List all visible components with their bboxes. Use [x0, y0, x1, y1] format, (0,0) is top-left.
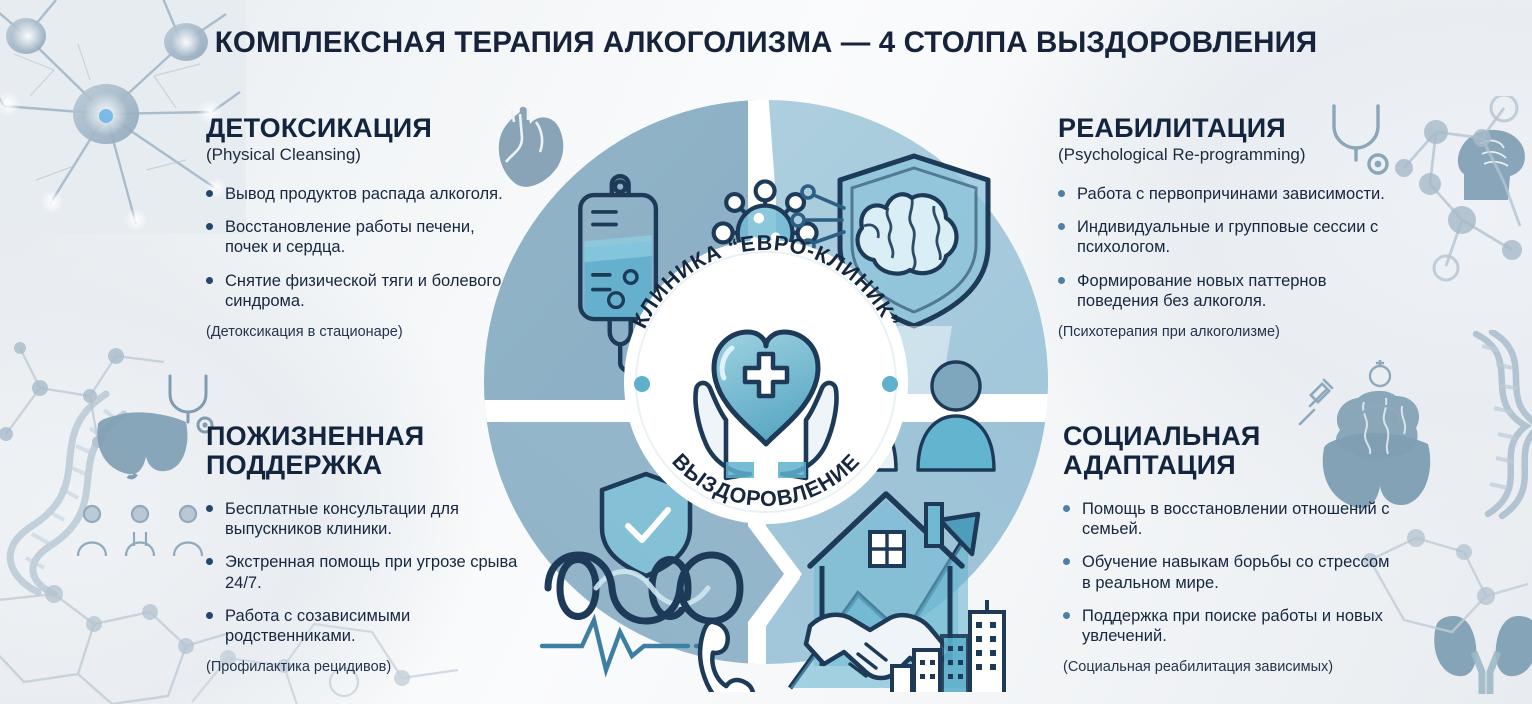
- bullet-dot: [206, 190, 213, 197]
- pillar-heading-support: ПОЖИЗНЕННАЯ ПОДДЕРЖКА: [206, 422, 536, 479]
- bullet-text: Поддержка при поиске работы и новых увле…: [1082, 607, 1383, 645]
- bullet-dot: [206, 558, 213, 565]
- dna-helix-icon: [2, 388, 132, 598]
- list-item: Обучение навыкам борьбы со стрессом в ре…: [1063, 552, 1393, 592]
- list-item: Поддержка при поиске работы и новых увле…: [1063, 606, 1393, 646]
- pillar-heading-social: СОЦИАЛЬНАЯ АДАПТАЦИЯ: [1063, 422, 1393, 479]
- list-item: Работа с созависимыми родственниками.: [206, 606, 536, 646]
- pillar-block-social: СОЦИАЛЬНАЯ АДАПТАЦИЯ Помощь в восстановл…: [1063, 422, 1393, 675]
- list-item: Работа с первопричинами зависимости.: [1058, 184, 1388, 204]
- liver-icon: [92, 408, 192, 480]
- bullet-text: Формирование новых паттернов поведения б…: [1077, 272, 1327, 310]
- nurse-icon: [1352, 360, 1408, 426]
- emblem-dot-right: [882, 376, 898, 392]
- molecule-icon: [0, 582, 230, 704]
- bullet-text: Помощь в восстановлении отношений с семь…: [1082, 500, 1390, 538]
- dna-helix-icon: [1462, 330, 1532, 520]
- bullet-text: Снятие физической тяги и болевого синдро…: [225, 272, 501, 310]
- pillar-subtitle-rehab: (Psychological Re-programming): [1058, 145, 1388, 165]
- list-item: Формирование новых паттернов поведения б…: [1058, 271, 1388, 311]
- center-emblem[interactable]: КЛИНИКА “ЕВРО-КЛИНИК” ВЫЗДОРОВЛЕНИЕ: [624, 231, 908, 524]
- bullet-dot: [1058, 190, 1065, 197]
- bullet-text: Обучение навыкам борьбы со стрессом в ре…: [1082, 553, 1390, 591]
- kidneys-icon: [1428, 588, 1532, 696]
- pillar-heading-rehab: РЕАБИЛИТАЦИЯ: [1058, 114, 1388, 143]
- list-item: Экстренная помощь при угрозе срыва 24/7.: [206, 552, 536, 592]
- infographic-canvas: КОМПЛЕКСНАЯ ТЕРАПИЯ АЛКОГОЛИЗМА — 4 СТОЛ…: [0, 0, 1532, 704]
- molecule-icon: [1386, 96, 1532, 326]
- list-item: Снятие физической тяги и болевого синдро…: [206, 271, 506, 311]
- title-bar: КОМПЛЕКСНАЯ ТЕРАПИЯ АЛКОГОЛИЗМА — 4 СТОЛ…: [0, 26, 1532, 59]
- list-item: Восстановление работы печени, почек и се…: [206, 217, 506, 257]
- pillar-heading-detox: ДЕТОКСИКАЦИЯ: [206, 114, 506, 143]
- emblem-dot-left: [634, 376, 650, 392]
- bullet-dot: [1058, 277, 1065, 284]
- bullet-dot: [206, 223, 213, 230]
- bullet-dot: [206, 612, 213, 619]
- bullet-dot: [1063, 612, 1070, 619]
- pillar-subtitle-detox: (Physical Cleansing): [206, 145, 506, 165]
- head-with-brain-icon: [1452, 120, 1532, 204]
- pillar-bullets-rehab: Работа с первопричинами зависимости. Инд…: [1058, 184, 1388, 311]
- bullet-text: Вывод продуктов распада алкоголя.: [225, 185, 503, 203]
- page-title: КОМПЛЕКСНАЯ ТЕРАПИЯ АЛКОГОЛИЗМА — 4 СТОЛ…: [11, 26, 1520, 59]
- bullet-text: Экстренная помощь при угрозе срыва 24/7.: [225, 553, 517, 591]
- pillar-bullets-social: Помощь в восстановлении отношений с семь…: [1063, 499, 1393, 646]
- pillar-bullets-detox: Вывод продуктов распада алкоголя. Восста…: [206, 184, 506, 311]
- bullet-text: Работа с первопричинами зависимости.: [1077, 185, 1385, 203]
- bullet-dot: [1058, 223, 1065, 230]
- bullet-text: Работа с созависимыми родственниками.: [225, 607, 410, 645]
- list-item: Бесплатные консультации для выпускников …: [206, 499, 536, 539]
- pillar-footnote-rehab: (Психотерапия при алкоголизме): [1058, 324, 1388, 340]
- pillar-footnote-support: (Профилактика рецидивов): [206, 659, 536, 675]
- doctor-icon: [64, 500, 214, 560]
- pillar-block-support: ПОЖИЗНЕННАЯ ПОДДЕРЖКА Бесплатные консуль…: [206, 422, 536, 675]
- list-item: Индивидуальные и групповые сессии с псих…: [1058, 217, 1388, 257]
- pillar-block-rehab: РЕАБИЛИТАЦИЯ (Psychological Re-programmi…: [1058, 114, 1388, 340]
- bullet-text: Бесплатные консультации для выпускников …: [225, 500, 459, 538]
- bullet-text: Индивидуальные и групповые сессии с псих…: [1077, 218, 1378, 256]
- list-item: Помощь в восстановлении отношений с семь…: [1063, 499, 1393, 539]
- molecule-icon: [0, 338, 214, 458]
- pillar-block-detox: ДЕТОКСИКАЦИЯ (Physical Cleansing) Вывод …: [206, 114, 506, 340]
- pillar-footnote-detox: (Детоксикация в стационаре): [206, 324, 506, 340]
- pillar-bullets-support: Бесплатные консультации для выпускников …: [206, 499, 536, 646]
- pillar-footnote-social: (Социальная реабилитация зависимых): [1063, 659, 1393, 675]
- list-item: Вывод продуктов распада алкоголя.: [206, 184, 506, 204]
- bullet-dot: [1063, 558, 1070, 565]
- bullet-dot: [206, 277, 213, 284]
- bullet-dot: [206, 505, 213, 512]
- four-pillars-wheel: КЛИНИКА “ЕВРО-КЛИНИК” ВЫЗДОРОВЛЕНИЕ: [466, 72, 1066, 692]
- bullet-text: Восстановление работы печени, почек и се…: [225, 218, 475, 256]
- bullet-dot: [1063, 505, 1070, 512]
